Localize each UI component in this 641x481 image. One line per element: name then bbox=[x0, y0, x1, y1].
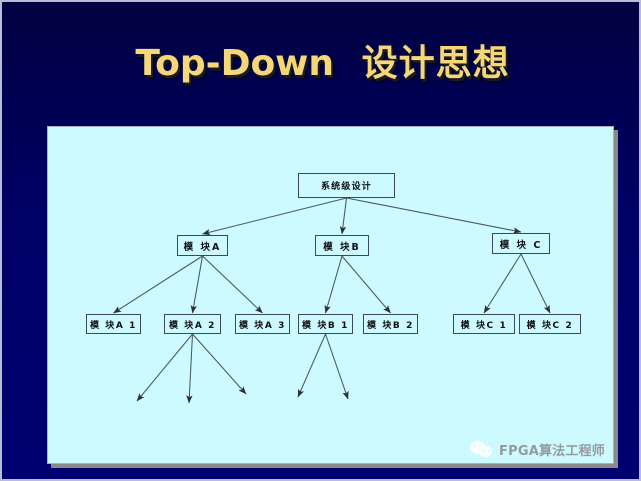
diagram-node-modA3: 模 块A 3 bbox=[235, 314, 290, 334]
diagram-edge-modA2-to-open-a2-mid bbox=[189, 334, 193, 403]
diagram-edge-root-to-modA bbox=[203, 198, 347, 234]
diagram-node-label: 模 块B 2 bbox=[367, 318, 414, 331]
diagram-edge-modB-to-modB2 bbox=[342, 256, 391, 313]
diagram-edge-modA-to-modA1 bbox=[114, 256, 203, 313]
diagram-node-label: 模 块A 1 bbox=[90, 318, 137, 331]
diagram-node-label: 系统级设计 bbox=[321, 179, 372, 192]
wechat-icon bbox=[470, 441, 494, 458]
watermark: FPGA算法工程师 bbox=[470, 440, 605, 459]
title-cjk-text: 设计思想 bbox=[362, 43, 510, 84]
page-title: Top-Down 设计思想 bbox=[2, 34, 641, 86]
diagram-node-label: 模 块A bbox=[184, 239, 222, 253]
diagram-edge-root-to-modB bbox=[342, 198, 347, 234]
diagram-node-modB: 模 块B bbox=[315, 235, 369, 256]
diagram-node-modB2: 模 块B 2 bbox=[363, 314, 418, 334]
diagram-node-label: 模 块B 1 bbox=[302, 318, 349, 331]
diagram-node-root: 系统级设计 bbox=[298, 173, 395, 198]
diagram-edge-modA-to-modA2 bbox=[193, 256, 203, 313]
diagram-node-modB1: 模 块B 1 bbox=[298, 314, 353, 334]
diagram-node-label: 模 块A 3 bbox=[239, 318, 286, 331]
diagram-edge-modA2-to-open-a2-left bbox=[137, 334, 193, 401]
diagram-node-modA1: 模 块A 1 bbox=[86, 314, 141, 334]
diagram-node-modC1: 模 块C 1 bbox=[453, 314, 515, 334]
diagram-edge-modA2-to-open-a2-right bbox=[193, 334, 247, 394]
watermark-text: FPGA算法工程师 bbox=[499, 440, 605, 459]
diagram-edge-modB1-to-open-b1-right bbox=[326, 334, 349, 399]
diagram-node-modC: 模 块 C bbox=[492, 233, 550, 254]
diagram-edge-modA-to-modA3 bbox=[203, 256, 263, 313]
diagram-edge-modB-to-modB1 bbox=[326, 256, 343, 313]
diagram-node-label: 模 块C 2 bbox=[527, 318, 574, 331]
diagram-node-modA: 模 块A bbox=[177, 235, 228, 256]
diagram-edge-modC-to-modC1 bbox=[484, 254, 521, 313]
title-latin-text: Top-Down bbox=[135, 43, 334, 84]
diagram-edge-modC-to-modC2 bbox=[521, 254, 550, 313]
diagram-panel: 系统级设计模 块A模 块B模 块 C模 块A 1模 块A 2模 块A 3模 块B… bbox=[47, 126, 614, 464]
diagram-edge-root-to-modC bbox=[347, 198, 522, 232]
diagram-node-label: 模 块 C bbox=[500, 237, 543, 251]
diagram-edge-modB1-to-open-b1-left bbox=[298, 334, 326, 397]
diagram-node-modC2: 模 块C 2 bbox=[519, 314, 581, 334]
diagram-node-modA2: 模 块A 2 bbox=[164, 314, 221, 334]
presentation-slide: Top-Down 设计思想 系统级设计模 块A模 块B模 块 C模 块A 1模 … bbox=[0, 0, 641, 481]
diagram-node-label: 模 块B bbox=[323, 239, 361, 253]
diagram-node-label: 模 块C 1 bbox=[461, 318, 508, 331]
diagram-node-label: 模 块A 2 bbox=[169, 318, 216, 331]
